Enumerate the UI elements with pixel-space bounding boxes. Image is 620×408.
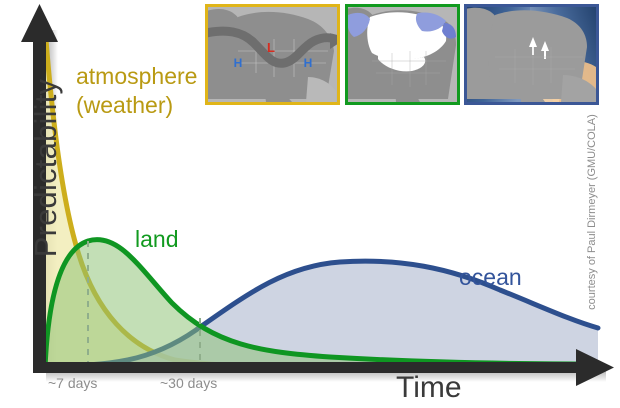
svg-text:H: H — [234, 56, 243, 70]
series-label-atmosphere-line2: (weather) — [76, 91, 197, 120]
y-axis-label: Predictability — [28, 38, 64, 298]
svg-text:H: H — [304, 56, 313, 70]
weather-map-thumbnail: L H H — [205, 4, 340, 105]
series-label-atmosphere-line1: atmosphere — [76, 62, 197, 91]
svg-text:L: L — [267, 40, 275, 55]
ocean-sst-map-thumbnail — [464, 4, 599, 105]
series-label-land: land — [135, 226, 178, 253]
tick-label-7-days: ~7 days — [48, 375, 97, 391]
x-axis-label: Time — [396, 371, 462, 405]
predictability-figure: Predictability Time ~7 days ~30 days atm… — [0, 0, 620, 408]
tick-label-30-days: ~30 days — [160, 375, 217, 391]
land-snow-map-thumbnail — [345, 4, 460, 105]
series-label-ocean: ocean — [459, 264, 522, 291]
credit-text: courtesy of Paul Dirmeyer (GMU/COLA) — [586, 96, 598, 328]
series-label-atmosphere: atmosphere (weather) — [76, 62, 197, 120]
